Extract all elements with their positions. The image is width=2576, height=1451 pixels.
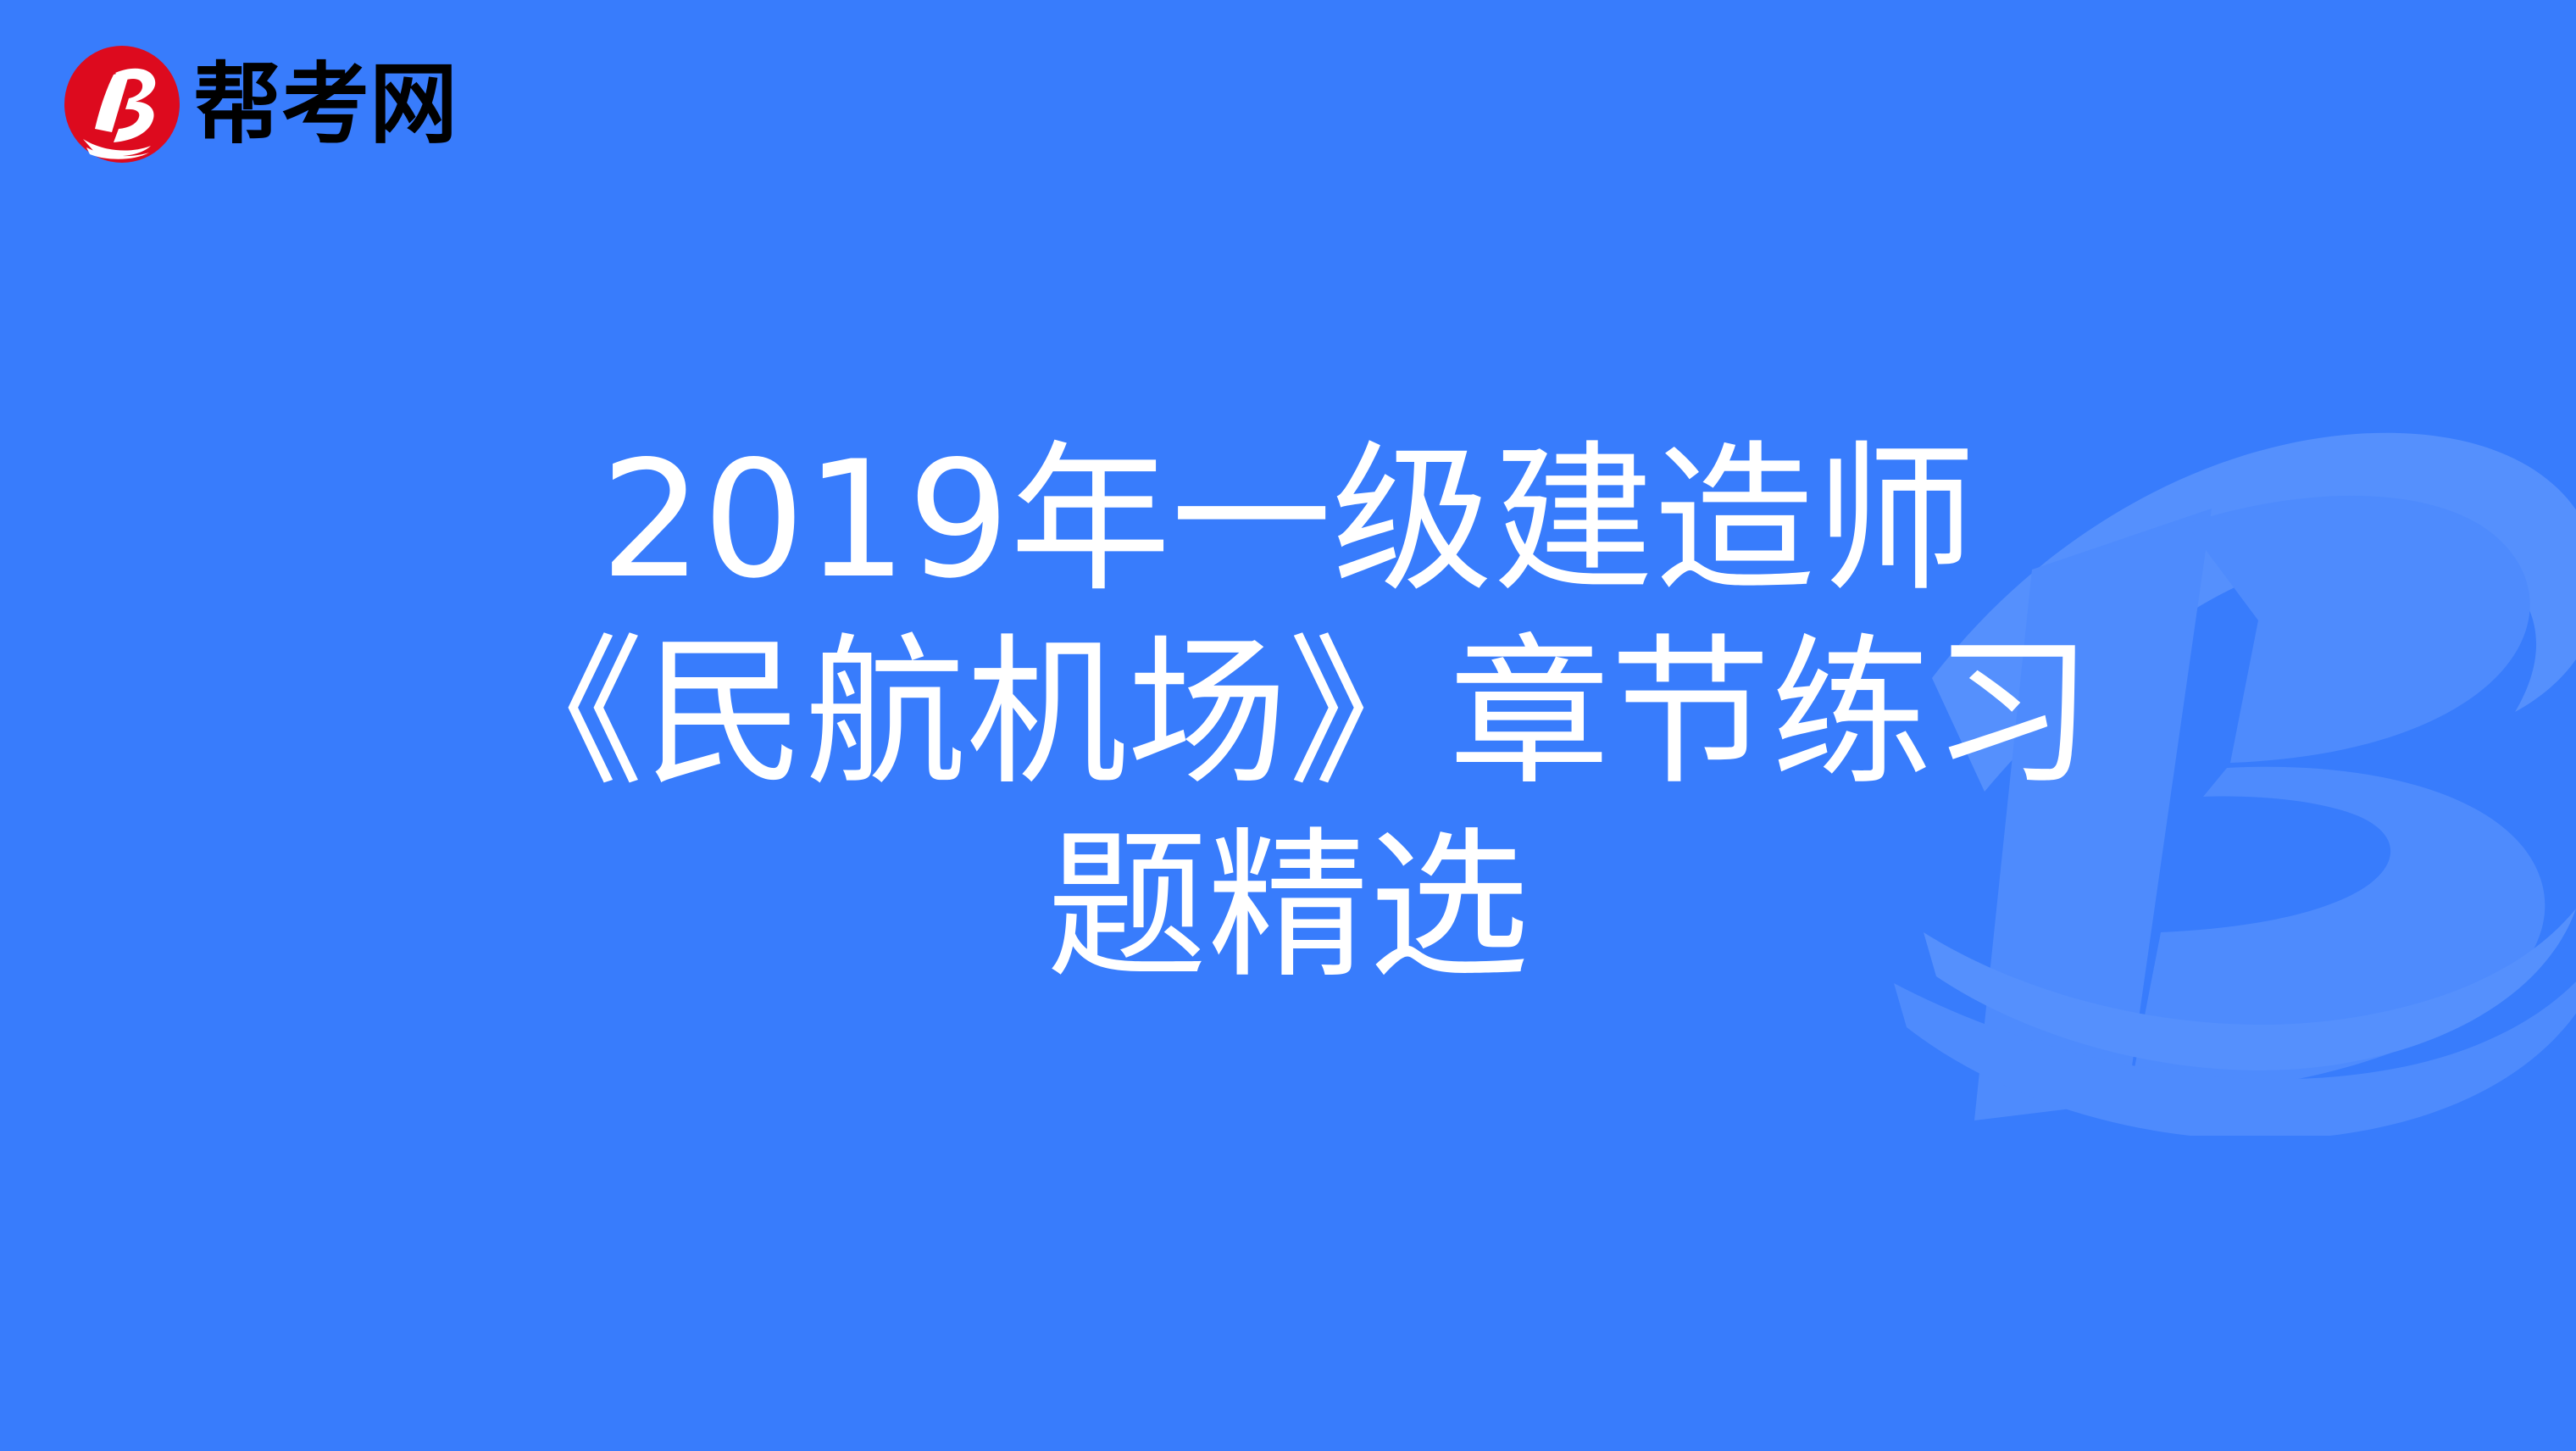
page-title-line-2: 《民航机场》章节练习	[51, 617, 2525, 810]
page-title-line-3: 题精选	[51, 810, 2525, 1003]
page-title: 2019年一级建造师 《民航机场》章节练习 题精选	[0, 424, 2576, 1003]
brand-logo: 帮考网	[63, 44, 458, 164]
poster-canvas: 帮考网 2019年一级建造师 《民航机场》章节练习 题精选	[0, 0, 2576, 1451]
page-title-line-1: 2019年一级建造师	[51, 424, 2525, 617]
brand-name: 帮考网	[193, 60, 458, 148]
bangkao-b-badge-icon	[63, 44, 181, 164]
